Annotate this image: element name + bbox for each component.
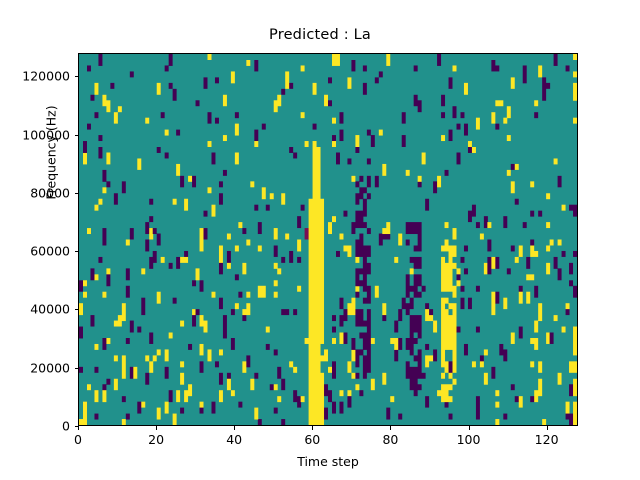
xticklabel-60: 60 [304,432,320,447]
x-axis-label: Time step [78,454,578,469]
xticklabel-80: 80 [382,432,398,447]
xticklabel-0: 0 [74,432,82,447]
yticklabel-40000: 40000 [30,302,70,317]
ytick-60000 [75,251,79,252]
spectrogram-heatmap [79,54,577,425]
ytick-0 [75,426,79,427]
ytick-80000 [75,193,79,194]
xtick-0 [78,426,79,430]
ytick-100000 [75,135,79,136]
xtick-60 [312,426,313,430]
matplotlib-figure: Predicted : La 0 20 40 60 80 100 120 0 2… [0,0,640,480]
ytick-120000 [75,76,79,77]
xtick-100 [469,426,470,430]
ytick-40000 [75,309,79,310]
chart-title: Predicted : La [0,27,640,43]
ytick-20000 [75,368,79,369]
xtick-120 [547,426,548,430]
yticklabel-0: 0 [62,419,70,434]
xtick-80 [390,426,391,430]
xticklabel-120: 120 [535,432,559,447]
xticklabel-40: 40 [226,432,242,447]
yticklabel-20000: 20000 [30,360,70,375]
y-axis-label: Frequency (Hz) [44,58,59,248]
xtick-40 [234,426,235,430]
xtick-20 [156,426,157,430]
xticklabel-20: 20 [148,432,164,447]
heatmap-axes [78,53,578,426]
xticklabel-100: 100 [457,432,481,447]
